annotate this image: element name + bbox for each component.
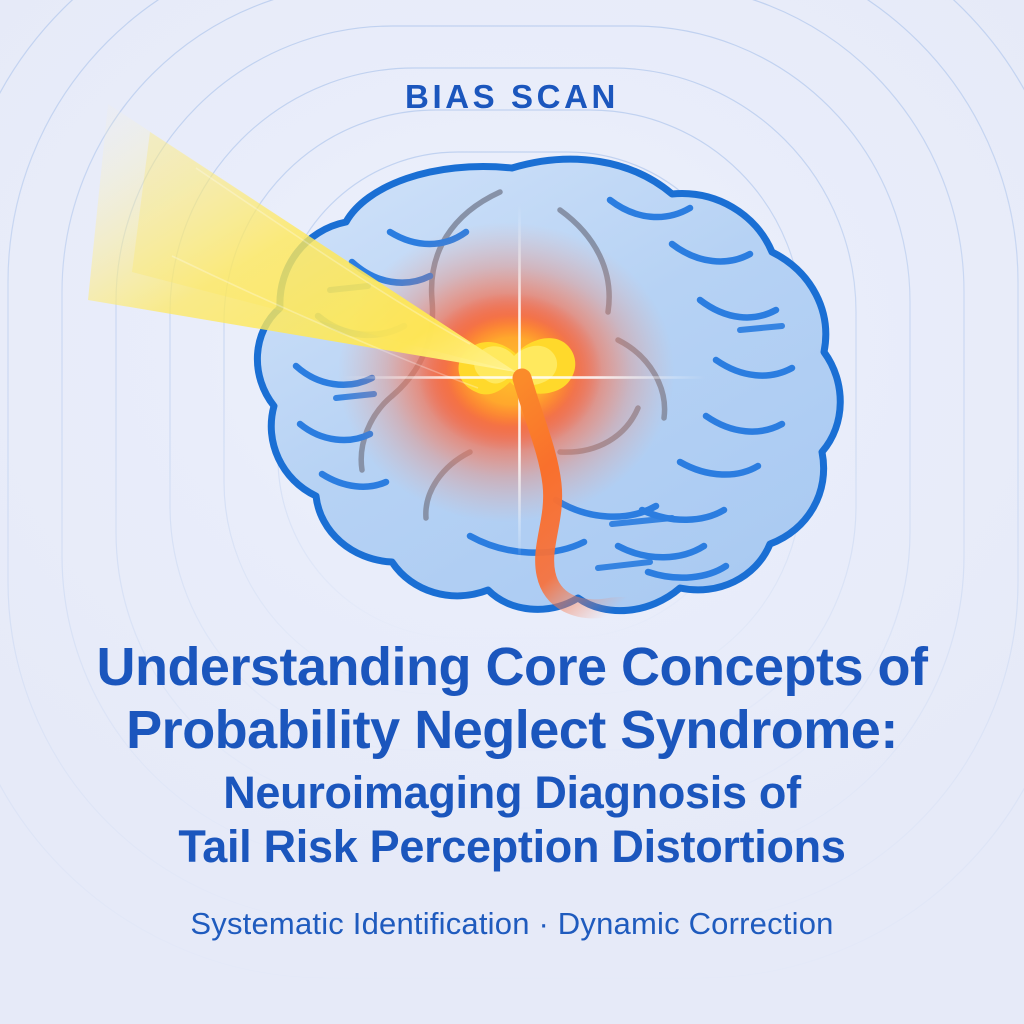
poster-canvas: BIAS SCAN Understanding Core Concepts of… [0, 0, 1024, 1024]
scan-beam-icon [88, 104, 516, 388]
page-title: Understanding Core Concepts of Probabili… [0, 640, 1024, 869]
title-line-1: Understanding Core Concepts of [0, 640, 1024, 694]
heat-hotspot-icon [338, 222, 674, 522]
brainstem-icon [470, 520, 527, 616]
page-tagline: Systematic Identification · Dynamic Corr… [0, 906, 1024, 942]
title-line-3: Neuroimaging Diagnosis of [0, 770, 1024, 815]
brain-icon [257, 159, 840, 610]
nerve-pathway-icon [522, 378, 672, 618]
title-line-4: Tail Risk Perception Distortions [0, 824, 1024, 869]
page-header-label: BIAS SCAN [0, 78, 1024, 116]
crosshair-icon [342, 204, 706, 564]
title-line-2: Probability Neglect Syndrome: [0, 703, 1024, 757]
